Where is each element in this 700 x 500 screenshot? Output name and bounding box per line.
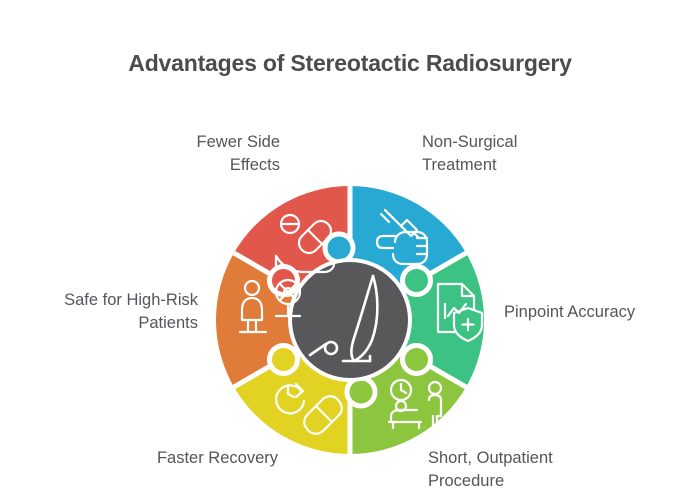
label-short-outpatient-procedure: Short, Outpatient Procedure (428, 447, 628, 493)
label-non-surgical-treatment: Non-Surgical Treatment (422, 131, 602, 177)
label-line-1: Non-Surgical (422, 131, 602, 154)
label-line-2: Procedure (428, 470, 628, 493)
label-line-1: Short, Outpatient (428, 447, 628, 470)
label-line-1: Fewer Side (120, 131, 280, 154)
label-line-2: Patients (18, 312, 198, 335)
label-pinpoint-accuracy: Pinpoint Accuracy (504, 301, 694, 324)
label-line-1: Faster Recovery (60, 447, 278, 470)
label-line-2: Treatment (422, 154, 602, 177)
label-safe-for-high-risk-patients: Safe for High-Risk Patients (18, 289, 198, 335)
label-line-1: Safe for High-Risk (18, 289, 198, 312)
infographic-canvas: Advantages of Stereotactic Radiosurgery (0, 0, 700, 500)
puzzle-wheel (210, 180, 490, 460)
label-line-2: Effects (120, 154, 280, 177)
label-line-1: Pinpoint Accuracy (504, 301, 694, 324)
label-faster-recovery: Faster Recovery (60, 447, 278, 470)
label-fewer-side-effects: Fewer Side Effects (120, 131, 280, 177)
page-title: Advantages of Stereotactic Radiosurgery (0, 50, 700, 77)
